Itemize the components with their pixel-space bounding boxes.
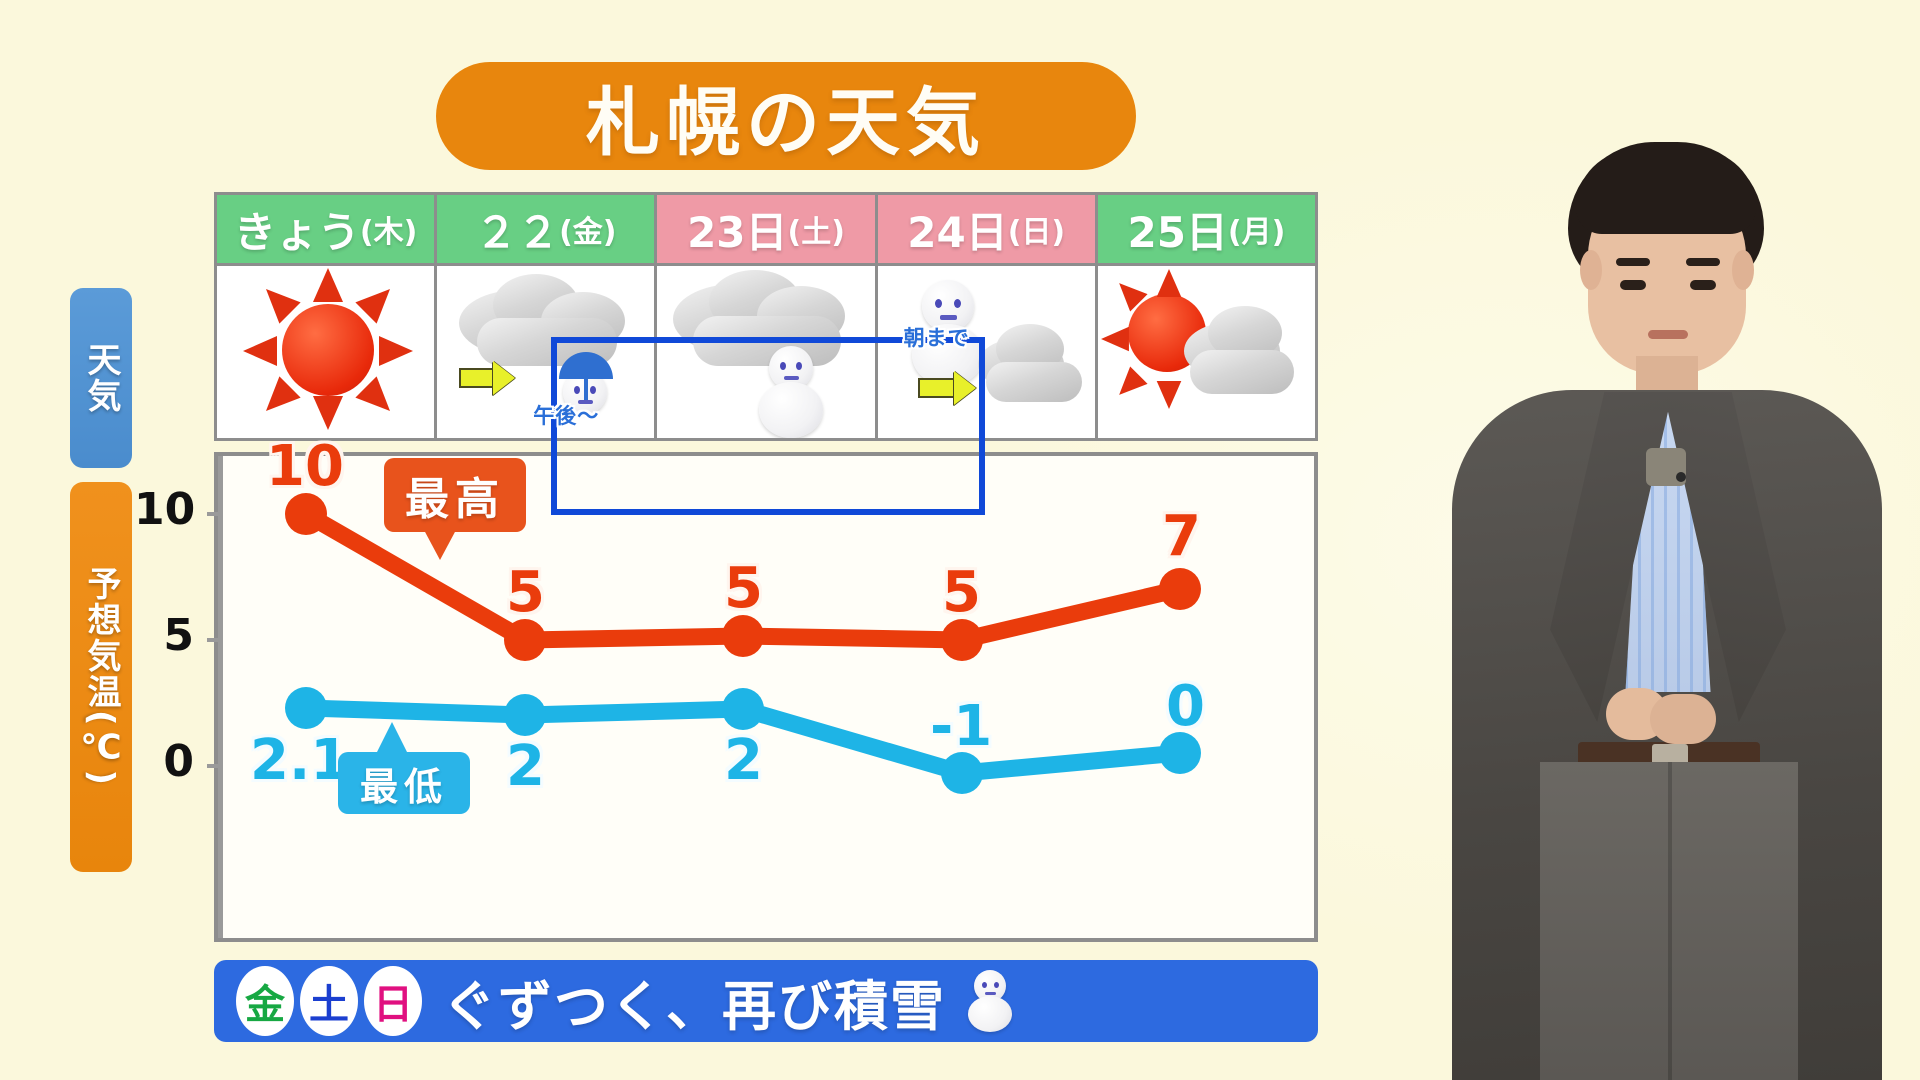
high-label-3: 5	[942, 560, 981, 625]
section-tab-temperature: 予想気温(℃)	[70, 482, 132, 872]
section-tab-weather: 天気	[70, 288, 132, 468]
section-tab-weather-label: 天気	[83, 342, 119, 414]
day-weekday-2: (土)	[788, 207, 845, 251]
day-date-1: ２２	[475, 199, 559, 260]
arrow-right-icon	[954, 371, 976, 405]
y-tick-label-10: 10	[134, 484, 194, 535]
page-title: 札幌の天気	[586, 63, 986, 170]
day-weekday-3: (日)	[1008, 207, 1065, 251]
low-label-1: 2	[506, 734, 545, 799]
day-date-2: 23日	[687, 199, 787, 260]
callout-low: 最低	[338, 752, 470, 814]
y-tick-label-5: 5	[134, 610, 194, 661]
callout-high: 最高	[384, 458, 526, 532]
day-date-0: きょう	[234, 199, 360, 260]
section-tab-temperature-label: 予想気温(℃)	[83, 566, 119, 787]
day-chip-sunday-label: 日	[373, 972, 413, 1030]
day-header-2: 23日(土)	[657, 195, 874, 263]
day-date-4: 25日	[1127, 199, 1227, 260]
chart-plot	[218, 456, 1314, 938]
page-title-banner: 札幌の天気	[436, 62, 1136, 170]
high-label-0: 10	[266, 434, 344, 499]
weather-cell-0	[217, 266, 434, 438]
weather-cell-1: 午後～	[437, 266, 654, 438]
day-chip-friday: 金	[236, 966, 294, 1036]
summary-message: ぐずつく、再び積雪	[442, 962, 946, 1041]
weather-cell-2	[657, 266, 874, 438]
high-label-1: 5	[506, 560, 545, 625]
day-chip-friday-label: 金	[245, 972, 285, 1030]
icon-note-1: 午後～	[533, 400, 599, 430]
low-label-2: 2	[724, 728, 763, 793]
day-header-1: ２２(金)	[437, 195, 654, 263]
y-tick-label-0: 0	[134, 736, 194, 787]
day-weekday-0: (木)	[360, 207, 417, 251]
day-date-3: 24日	[907, 199, 1007, 260]
high-label-2: 5	[724, 556, 763, 621]
temperature-chart: 10 5 0 10 5 5 5 7 2.1 2 2 -1 0 最高 最低	[214, 452, 1318, 942]
callout-low-label: 最低	[360, 756, 448, 811]
forecast-icon-row: 午後～	[214, 266, 1318, 441]
day-header-4: 25日(月)	[1098, 195, 1315, 263]
day-chip-sunday: 日	[364, 966, 422, 1036]
day-chip-saturday-label: 土	[309, 972, 349, 1030]
weather-cell-3: 朝まで	[878, 266, 1095, 438]
day-header-0: きょう(木)	[217, 195, 434, 263]
day-header-3: 24日(日)	[878, 195, 1095, 263]
snowman-icon	[964, 970, 1016, 1032]
presenter-figure	[1400, 0, 1920, 1080]
icon-note-3: 朝まで	[904, 322, 970, 352]
day-chip-saturday: 土	[300, 966, 358, 1036]
weather-cell-4	[1098, 266, 1315, 438]
day-weekday-4: (月)	[1228, 207, 1285, 251]
forecast-header-row: きょう(木) ２２(金) 23日(土) 24日(日) 25日(月)	[214, 192, 1318, 266]
forecast-table: きょう(木) ２２(金) 23日(土) 24日(日) 25日(月)	[214, 192, 1318, 441]
low-label-0: 2.1	[250, 728, 349, 793]
summary-banner: 金 土 日 ぐずつく、再び積雪	[214, 960, 1318, 1042]
high-label-4: 7	[1162, 504, 1201, 569]
low-label-3: -1	[930, 694, 992, 759]
callout-high-label: 最高	[405, 463, 505, 527]
arrow-right-icon	[493, 361, 515, 395]
low-label-4: 0	[1166, 674, 1205, 739]
day-weekday-1: (金)	[559, 207, 616, 251]
